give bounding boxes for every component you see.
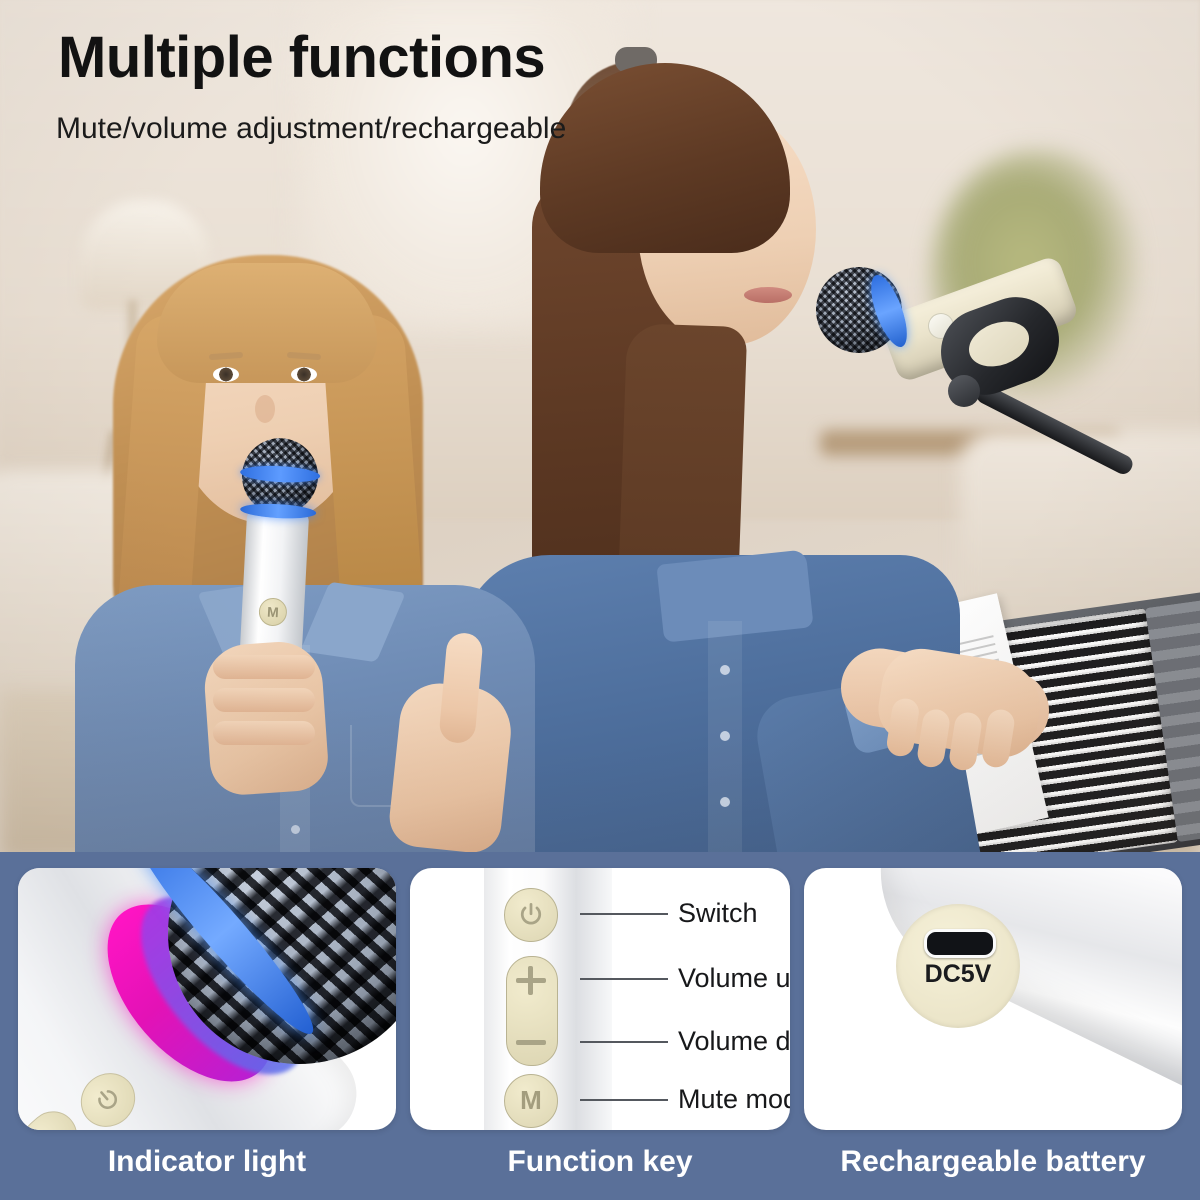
- caption-indicator-light: Indicator light: [18, 1140, 396, 1184]
- callout-label-volume-up: Volume up: [678, 963, 790, 994]
- mic-stand-pole: [974, 382, 1136, 477]
- power-icon[interactable]: [504, 888, 558, 942]
- hair-fringe: [157, 263, 377, 383]
- product-feature-image: M Multiple functions Mute/volume adjustm…: [0, 0, 1200, 1200]
- panel-indicator-light: [18, 868, 396, 1130]
- mute-icon[interactable]: M: [504, 1074, 558, 1128]
- caption-rechargeable-battery: Rechargeable battery: [804, 1140, 1182, 1184]
- page-subtitle: Mute/volume adjustment/rechargeable: [56, 112, 566, 146]
- feature-band: Indicator light M Switch Volume up Volum…: [0, 852, 1200, 1200]
- callout-label-switch: Switch: [678, 898, 758, 929]
- callout-line-volume-down: [580, 1041, 668, 1043]
- hero-photo: M Multiple functions Mute/volume adjustm…: [0, 0, 1200, 856]
- usb-c-port-icon: [924, 929, 996, 958]
- stand-microphone: [800, 255, 1130, 485]
- eye-left: [213, 367, 239, 382]
- lips: [744, 287, 792, 303]
- handheld-microphone: M: [226, 436, 324, 670]
- nose: [255, 395, 275, 423]
- minus-icon: [516, 1040, 546, 1045]
- callout-line-switch: [580, 913, 668, 915]
- mic-clip-knob: [948, 375, 980, 407]
- callout-label-mute-mode: Mute mode: [678, 1084, 790, 1115]
- callout-line-volume-up: [580, 978, 668, 980]
- panel-rechargeable-battery: DC5V: [804, 868, 1182, 1130]
- callout-label-volume-down: Volume down: [678, 1026, 790, 1057]
- eye-right: [291, 367, 317, 382]
- callout-line-mute: [580, 1099, 668, 1101]
- port-label: DC5V: [896, 962, 1020, 987]
- page-title: Multiple functions: [58, 28, 545, 89]
- caption-function-key: Function key: [410, 1140, 790, 1184]
- charging-pad: DC5V: [896, 904, 1020, 1028]
- panel-function-key: M Switch Volume up Volume down Mute mode: [410, 868, 790, 1130]
